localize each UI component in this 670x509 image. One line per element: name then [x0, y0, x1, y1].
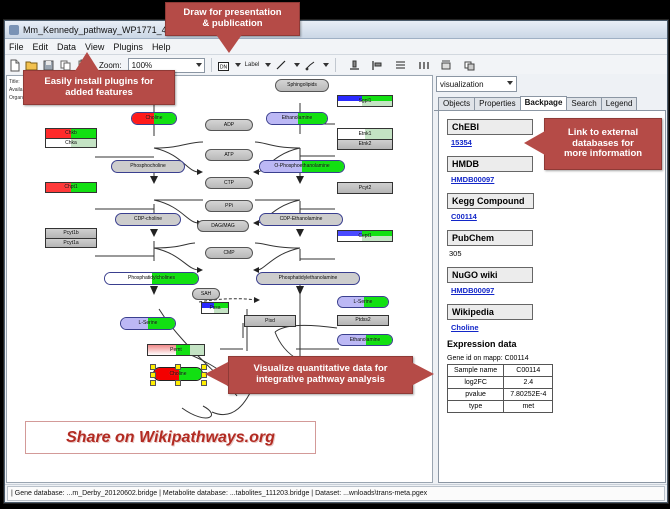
sidebar-tabs[interactable]: Objects Properties Backpage Search Legen… — [434, 95, 666, 111]
gene-label: Etnk2 — [359, 142, 372, 147]
chevron-down-icon — [196, 63, 202, 67]
db-link-kegg[interactable]: C00114 — [451, 212, 665, 221]
gene-pisd[interactable]: Pisd — [244, 315, 296, 327]
node-label: Phosphatidylcholines — [128, 276, 175, 281]
stack-icon[interactable] — [394, 59, 407, 72]
selection-handle[interactable] — [175, 380, 181, 386]
gene-pcyt1a[interactable]: Pcyt1a — [45, 238, 97, 248]
gene-cept1[interactable]: Cept1 — [337, 230, 393, 242]
menu-item-plugins[interactable]: Plugins — [113, 42, 143, 52]
table-row: type met — [448, 401, 553, 413]
table-row: log2FC 2.4 — [448, 377, 553, 389]
node-l-serine-left[interactable]: L-Serine — [120, 317, 176, 330]
selection-handle[interactable] — [175, 364, 181, 370]
node-phosphocholine[interactable]: Phosphocholine — [111, 160, 185, 173]
node-label: ATP — [224, 153, 233, 158]
db-group-nugo: NuGO wiki HMDB00097 — [447, 265, 665, 295]
expression-table: Sample name C00114 log2FC 2.4 pvalue 7.8… — [447, 364, 553, 413]
chevron-down-icon[interactable] — [265, 63, 271, 67]
node-label: Phosphocholine — [130, 164, 166, 169]
callout-arrow-left — [524, 131, 545, 155]
interaction-icon[interactable] — [304, 59, 317, 72]
callout-easily-install-plugins: Easily install plugins for added feature… — [23, 70, 175, 105]
gene-label: Chka — [65, 141, 77, 146]
node-phosphatidylcholines[interactable]: Phosphatidylcholines — [104, 272, 199, 285]
db-group-pubchem: PubChem 305 — [447, 228, 665, 258]
selection-handle[interactable] — [150, 380, 156, 386]
align-left-icon[interactable] — [371, 59, 384, 72]
expr-key: log2FC — [448, 377, 504, 389]
toolbar-separator — [335, 58, 336, 72]
visualization-combo-value: visualization — [440, 80, 484, 89]
gene-etnk2[interactable]: Etnk2 — [337, 139, 393, 150]
node-label: Sphingolipids — [287, 83, 317, 88]
gene-pcyt2[interactable]: Pcyt2 — [337, 182, 393, 194]
tab-properties[interactable]: Properties — [474, 97, 520, 110]
db-title-chebi: ChEBI — [447, 119, 533, 135]
gene-label: Chpt1 — [64, 185, 77, 190]
menu-item-help[interactable]: Help — [152, 42, 171, 52]
share-banner: Share on Wikipathways.org — [25, 421, 316, 454]
label-tool-label[interactable]: Label — [245, 62, 260, 68]
callout-visualize-quantitative-data: Visualize quantitative data for integrat… — [228, 356, 413, 394]
tab-backpage[interactable]: Backpage — [520, 96, 568, 110]
distribute-icon[interactable] — [417, 59, 430, 72]
db-title-hmdb: HMDB — [447, 156, 533, 172]
callout-arrow-up — [75, 52, 99, 71]
gene-label: Pcyt2 — [359, 186, 372, 191]
node-label: L-Serine — [139, 321, 158, 326]
node-choline-top[interactable]: Choline — [131, 112, 177, 125]
datanode-icon[interactable]: DN — [218, 59, 229, 72]
chevron-down-icon — [507, 81, 513, 85]
db-link-hmdb[interactable]: HMDB00097 — [451, 175, 665, 184]
gene-label: Pssa — [209, 306, 220, 311]
gene-label: Pcyt1b — [63, 231, 78, 236]
callout-text: Draw for presentation & publication — [183, 8, 281, 30]
toolbar-separator — [211, 58, 212, 72]
gene-label: Chkb — [65, 131, 77, 136]
db-title-wikipedia: Wikipedia — [447, 304, 533, 320]
align-bottom-icon[interactable] — [348, 59, 361, 72]
node-label: L-Serine — [354, 300, 373, 305]
expr-value: 2.4 — [504, 377, 553, 389]
callout-arrow-left — [205, 362, 228, 386]
gene-chpt1[interactable]: Chpt1 — [45, 182, 97, 193]
node-l-serine-right[interactable]: L-Serine — [337, 296, 389, 308]
share-text: Share on Wikipathways.org — [66, 429, 275, 447]
expression-gene-id: Gene id on mapp: C00114 — [447, 355, 665, 362]
title-bar: Mm_Kennedy_pathway_WP1771_45176.gpml — [5, 21, 667, 39]
selection-handle[interactable] — [150, 372, 156, 378]
expr-value: C00114 — [504, 365, 553, 377]
gene-label: Etnk1 — [359, 132, 372, 137]
screenshot-root: Mm_Kennedy_pathway_WP1771_45176.gpml Fil… — [0, 0, 670, 509]
node-label: Choline — [170, 372, 187, 377]
chevron-down-icon[interactable] — [294, 63, 300, 67]
gene-label: Pemt — [170, 348, 182, 353]
status-text: | Gene database: ...m_Derby_20120602.bri… — [7, 486, 665, 501]
node-label: DAG/MAG — [211, 224, 235, 229]
gene-etnk1[interactable]: Etnk1 — [337, 128, 393, 139]
node-label: CMP — [223, 251, 234, 256]
gene-ptdss2[interactable]: Ptdss2 — [337, 315, 389, 326]
app-icon — [9, 25, 19, 35]
menu-item-view[interactable]: View — [85, 42, 104, 52]
callout-arrow-down — [215, 33, 243, 53]
selection-handle[interactable] — [150, 364, 156, 370]
gene-label: Pcyt1a — [63, 241, 78, 246]
zoom-value: 100% — [132, 61, 152, 70]
db-group-kegg: Kegg Compound C00114 — [447, 191, 665, 221]
expr-key: pvalue — [448, 389, 504, 401]
db-link-wikipedia[interactable]: Choline — [451, 323, 665, 332]
gene-pemt[interactable]: Pemt — [147, 344, 205, 356]
gene-pssa[interactable]: Pssa — [201, 302, 229, 314]
callout-text: Link to external databases for more info… — [564, 128, 642, 161]
db-title-nugo: NuGO wiki — [447, 267, 533, 283]
node-label: CTP — [224, 181, 234, 186]
node-label: O-Phosphoethanolamine — [274, 164, 329, 169]
gene-label: Sgpl1 — [359, 99, 372, 104]
node-ppi[interactable]: PPi — [205, 200, 253, 212]
fill-pale-green — [190, 345, 204, 355]
db-title-kegg: Kegg Compound — [447, 193, 534, 209]
expression-heading: Expression data — [447, 339, 665, 349]
node-label: CDP-choline — [134, 217, 162, 222]
chevron-down-icon[interactable] — [323, 63, 329, 67]
callout-draw-for-presentation: Draw for presentation & publication — [165, 2, 300, 36]
node-adp[interactable]: ADP — [205, 119, 253, 131]
node-label: PPi — [225, 204, 233, 209]
gene-chkb[interactable]: Chkb — [45, 128, 97, 138]
node-sah[interactable]: SAH — [192, 288, 220, 300]
chevron-down-icon[interactable] — [235, 63, 241, 67]
svg-text:DN: DN — [220, 64, 228, 70]
table-row: pvalue 7.80252E-4 — [448, 389, 553, 401]
gene-pcyt1b[interactable]: Pcyt1b — [45, 228, 97, 238]
node-label: SAH — [201, 292, 211, 297]
tab-search[interactable]: Search — [566, 97, 601, 110]
visualization-combo[interactable]: visualization — [436, 76, 517, 92]
callout-link-external-databases: Link to external databases for more info… — [544, 118, 662, 170]
gene-label: Cept1 — [358, 234, 371, 239]
menu-item-file[interactable]: File — [9, 42, 24, 52]
node-cdp-choline[interactable]: CDP-choline — [115, 213, 181, 226]
line-icon[interactable] — [275, 59, 288, 72]
node-ethanolamine-bottom[interactable]: Ethanolamine — [337, 334, 393, 346]
node-cmp[interactable]: CMP — [205, 247, 253, 259]
gene-label: Pisd — [265, 319, 275, 324]
db-group-wikipedia: Wikipedia Choline — [447, 302, 665, 332]
node-cdp-ethanolamine[interactable]: CDP-Ethanolamine — [259, 213, 343, 226]
group-icon[interactable] — [440, 59, 453, 72]
node-ethanolamine-top[interactable]: Ethanolamine — [266, 112, 328, 125]
callout-arrow-right — [411, 362, 434, 386]
node-atp[interactable]: ATP — [205, 149, 253, 161]
node-sphingolipids[interactable]: Sphingolipids — [275, 79, 329, 92]
table-row: Sample name C00114 — [448, 365, 553, 377]
order-icon[interactable] — [463, 59, 476, 72]
expr-value: met — [504, 401, 553, 413]
callout-text: Easily install plugins for added feature… — [44, 77, 153, 99]
expr-value: 7.80252E-4 — [504, 389, 553, 401]
node-label: Choline — [146, 116, 163, 121]
db-link-nugo[interactable]: HMDB00097 — [451, 286, 665, 295]
tab-legend[interactable]: Legend — [601, 97, 638, 110]
node-label: Phosphatidylethanolamine — [279, 276, 338, 281]
callout-text: Visualize quantitative data for integrat… — [254, 364, 388, 386]
menu-item-edit[interactable]: Edit — [33, 42, 49, 52]
db-title-pubchem: PubChem — [447, 230, 533, 246]
db-value-pubchem: 305 — [449, 249, 665, 258]
zoom-label: Zoom: — [99, 61, 122, 70]
node-label: CDP-Ethanolamine — [280, 217, 323, 222]
node-dagmag[interactable]: DAG/MAG — [197, 220, 249, 232]
status-bar: | Gene database: ...m_Derby_20120602.bri… — [5, 484, 667, 502]
node-label: ADP — [224, 123, 234, 128]
menu-bar[interactable]: File Edit Data View Plugins Help — [5, 39, 667, 55]
tab-objects[interactable]: Objects — [438, 97, 475, 110]
expr-key: Sample name — [448, 365, 504, 377]
gene-sgpl1[interactable]: Sgpl1 — [337, 95, 393, 107]
menu-item-data[interactable]: Data — [57, 42, 76, 52]
node-o-phosphoethanolamine[interactable]: O-Phosphoethanolamine — [259, 160, 345, 173]
new-file-icon[interactable] — [8, 59, 21, 72]
node-phosphatidylethanolamine[interactable]: Phosphatidylethanolamine — [256, 272, 360, 285]
node-label: Ethanolamine — [350, 338, 381, 343]
gene-chka[interactable]: Chka — [45, 138, 97, 148]
node-label: Ethanolamine — [282, 116, 313, 121]
gene-label: Ptdss2 — [355, 318, 370, 323]
expr-key: type — [448, 401, 504, 413]
node-ctp[interactable]: CTP — [205, 177, 253, 189]
